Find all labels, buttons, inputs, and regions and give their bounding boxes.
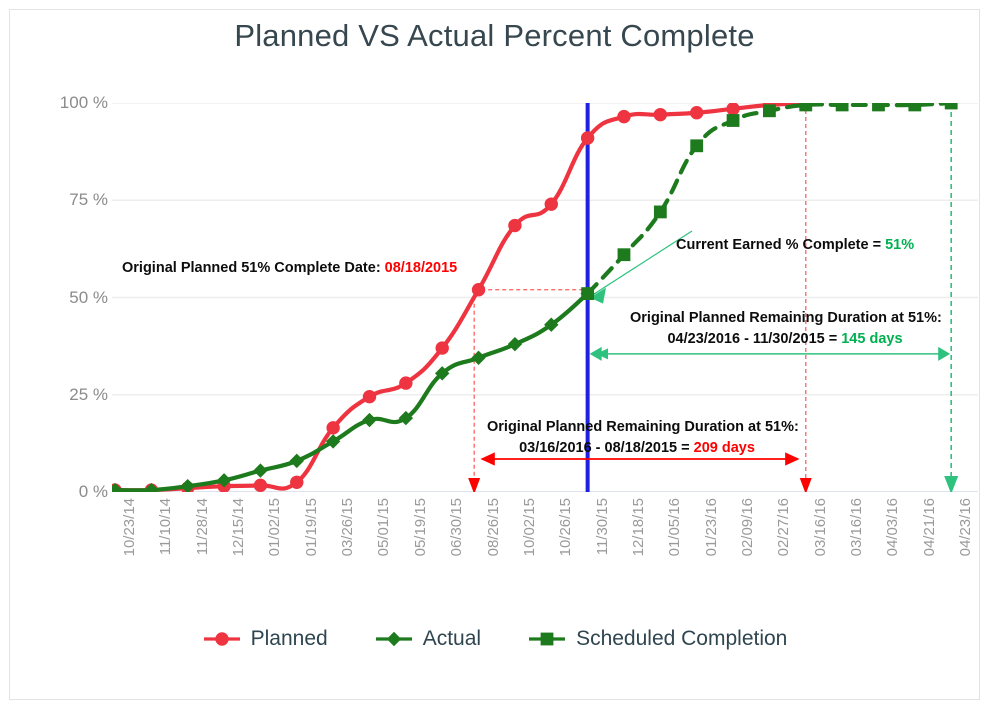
annotation-text: 04/23/2016 - 11/30/2015 = xyxy=(667,331,841,347)
data-point-marker xyxy=(545,198,557,210)
legend-item-actual[interactable]: Actual xyxy=(374,627,481,651)
green-arrowhead-left xyxy=(590,347,602,361)
legend-label: Scheduled Completion xyxy=(576,627,787,651)
data-point-marker xyxy=(472,284,484,296)
data-point-marker xyxy=(581,132,593,144)
y-axis-tick-label: 0 % xyxy=(36,482,108,502)
data-point-marker xyxy=(908,103,921,111)
annotation-text: Current Earned % Complete = xyxy=(676,237,885,253)
square-marker-icon xyxy=(527,629,567,649)
circle-marker-icon xyxy=(202,629,242,649)
x-axis-tick-label: 12/18/15 xyxy=(630,498,647,556)
data-point-marker xyxy=(872,103,885,111)
data-point-marker xyxy=(799,103,812,111)
annotation-value: 209 days xyxy=(694,440,755,456)
annotation-line-1: Original Planned Remaining Duration at 5… xyxy=(487,417,787,438)
series-line xyxy=(588,103,952,294)
annotation-line-1: Original Planned Remaining Duration at 5… xyxy=(630,308,940,329)
data-point-marker xyxy=(363,390,375,402)
series-actual xyxy=(112,286,595,492)
x-axis-tick-label: 01/05/16 xyxy=(666,498,683,556)
data-point-marker xyxy=(727,103,739,115)
data-point-marker xyxy=(763,104,776,117)
y-axis-tick-label: 75 % xyxy=(36,190,108,210)
legend-item-planned[interactable]: Planned xyxy=(202,627,328,651)
data-point-marker xyxy=(945,103,958,109)
red-down-arrowhead xyxy=(800,478,812,492)
x-axis-tick-label: 11/28/14 xyxy=(194,498,211,555)
annotation-value: 51% xyxy=(885,237,914,253)
annotation-planned-51-date: Original Planned 51% Complete Date: 08/1… xyxy=(122,258,457,279)
x-axis-tick-label: 10/23/14 xyxy=(121,498,138,556)
legend-label: Actual xyxy=(423,627,481,651)
series-line xyxy=(115,294,588,491)
x-axis-tick-label: 01/19/15 xyxy=(303,498,320,556)
data-point-marker xyxy=(727,114,740,127)
data-point-marker xyxy=(654,206,667,219)
data-point-marker xyxy=(509,219,521,231)
series-scheduled-completion xyxy=(581,103,957,300)
x-axis-tick-label: 10/26/15 xyxy=(557,498,574,556)
x-axis: 10/23/1411/10/1411/28/1412/15/1401/02/15… xyxy=(112,498,978,608)
x-axis-tick-label: 01/23/16 xyxy=(703,498,720,556)
x-axis-tick-label: 12/15/14 xyxy=(230,498,247,556)
annotation-text: Original Planned 51% Complete Date: xyxy=(122,260,385,276)
data-point-marker xyxy=(581,287,594,300)
chart-legend: PlannedActualScheduled Completion xyxy=(0,627,989,651)
annotation-current-earned: Current Earned % Complete = 51% xyxy=(676,235,914,256)
legend-item-scheduled-completion[interactable]: Scheduled Completion xyxy=(527,627,787,651)
annotation-remaining-duration-green: Original Planned Remaining Duration at 5… xyxy=(630,308,940,350)
x-axis-tick-label: 05/19/15 xyxy=(412,498,429,556)
x-axis-tick-label: 02/27/16 xyxy=(775,498,792,556)
chart-container: Planned VS Actual Percent Complete 0 %25… xyxy=(0,0,989,709)
data-point-marker xyxy=(290,454,304,468)
legend-label: Planned xyxy=(251,627,328,651)
x-axis-tick-label: 08/26/15 xyxy=(485,498,502,556)
diamond-marker-icon xyxy=(374,629,414,649)
green-down-arrowhead xyxy=(944,476,958,492)
annotation-value: 08/18/2015 xyxy=(385,260,458,276)
x-axis-tick-label: 11/30/15 xyxy=(594,498,611,555)
x-axis-tick-label: 03/26/15 xyxy=(339,498,356,556)
data-point-marker xyxy=(690,139,703,152)
data-point-marker xyxy=(690,107,702,119)
data-point-marker xyxy=(654,108,666,120)
x-axis-tick-label: 03/16/16 xyxy=(812,498,829,556)
data-point-marker xyxy=(215,633,227,645)
data-point-marker xyxy=(436,342,448,354)
annotation-line-2: 03/16/2016 - 08/18/2015 = 209 days xyxy=(487,438,787,459)
x-axis-tick-label: 01/02/15 xyxy=(266,498,283,556)
data-point-marker xyxy=(400,377,412,389)
x-axis-tick-label: 11/10/14 xyxy=(157,498,174,555)
chart-title: Planned VS Actual Percent Complete xyxy=(0,18,989,54)
x-axis-tick-label: 04/23/16 xyxy=(957,498,974,556)
data-point-marker xyxy=(618,110,630,122)
data-point-marker xyxy=(253,463,267,477)
annotation-remaining-duration-red: Original Planned Remaining Duration at 5… xyxy=(487,417,787,459)
red-down-arrowhead xyxy=(468,478,480,492)
data-point-marker xyxy=(291,476,303,488)
y-axis: 0 %25 %50 %75 %100 % xyxy=(22,0,108,709)
x-axis-tick-label: 06/30/15 xyxy=(448,498,465,556)
x-axis-tick-label: 03/16/16 xyxy=(848,498,865,556)
x-axis-tick-label: 10/02/15 xyxy=(521,498,538,556)
x-axis-tick-label: 05/01/15 xyxy=(375,498,392,556)
data-point-marker xyxy=(836,103,849,111)
y-axis-tick-label: 100 % xyxy=(36,93,108,113)
data-point-marker xyxy=(618,248,631,261)
x-axis-tick-label: 04/21/16 xyxy=(921,498,938,556)
x-axis-tick-label: 02/09/16 xyxy=(739,498,756,556)
data-point-marker xyxy=(541,633,554,646)
data-point-marker xyxy=(327,422,339,434)
data-point-marker xyxy=(508,337,522,351)
y-axis-tick-label: 50 % xyxy=(36,288,108,308)
annotation-text: 03/16/2016 - 08/18/2015 = xyxy=(519,440,694,456)
data-point-marker xyxy=(254,479,266,491)
x-axis-tick-label: 04/03/16 xyxy=(884,498,901,556)
annotation-line-2: 04/23/2016 - 11/30/2015 = 145 days xyxy=(630,329,940,350)
data-point-marker xyxy=(362,413,376,427)
annotation-value: 145 days xyxy=(841,331,902,347)
data-point-marker xyxy=(386,632,400,646)
y-axis-tick-label: 25 % xyxy=(36,385,108,405)
